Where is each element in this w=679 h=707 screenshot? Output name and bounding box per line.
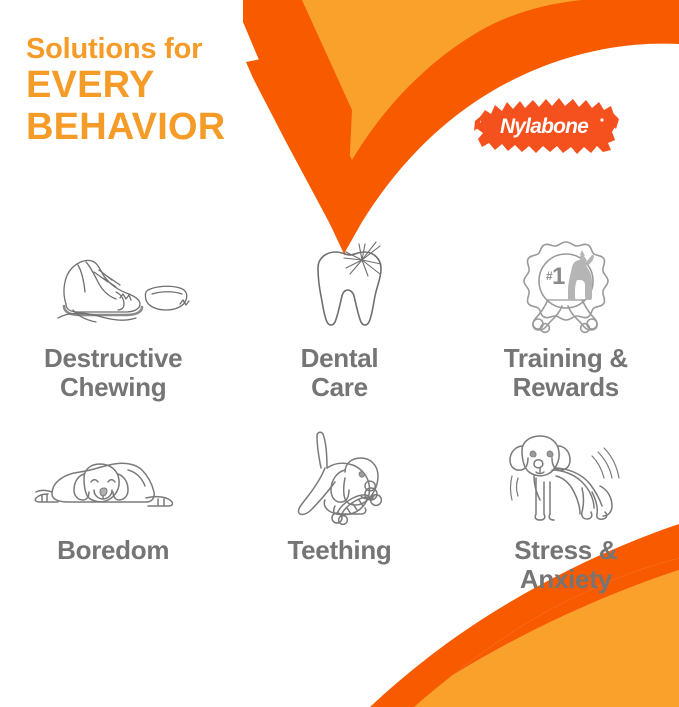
behavior-label: Boredom <box>57 536 169 565</box>
behavior-label: Destructive Chewing <box>44 344 182 401</box>
logo-wordmark: Nylabone <box>500 115 589 138</box>
page-title: Solutions for EVERY BEHAVIOR <box>26 34 225 147</box>
behavior-label: Stress & Anxiety <box>514 536 617 593</box>
bone-toy <box>332 488 381 524</box>
behavior-stress-anxiety: Stress & Anxiety <box>453 434 679 612</box>
behavior-label: Teething <box>287 536 391 565</box>
puppy-chewing-toy-icon <box>279 434 399 526</box>
chewed-shoe-icon <box>28 238 198 334</box>
behavior-teething: Teething <box>226 434 452 612</box>
anxious-standing-dog-icon <box>504 434 628 526</box>
nylabone-logo: Nylabone <box>473 95 619 157</box>
headline-line-1: Solutions for <box>26 34 225 64</box>
headline-line-2: EVERY <box>26 66 225 106</box>
behavior-destructive-chewing: Destructive Chewing <box>0 238 226 434</box>
award-rosette-dog-icon: # 1 <box>514 238 618 334</box>
behavior-label: Dental Care <box>301 344 379 401</box>
behavior-grid: Destructive Chewing <box>0 238 679 612</box>
headline-line-3: BEHAVIOR <box>26 108 225 148</box>
behavior-dental-care: Dental Care <box>226 238 452 434</box>
behavior-boredom: Boredom <box>0 434 226 612</box>
behavior-training-rewards: # 1 Training & Rewards <box>453 238 679 434</box>
promotional-banner: Solutions for EVERY BEHAVIOR Nylabone <box>0 0 679 707</box>
behavior-label: Training & Rewards <box>504 344 628 401</box>
motion-lines <box>510 448 619 500</box>
badge-number: 1 <box>552 263 565 290</box>
sitting-dog-silhouette <box>567 250 594 300</box>
lying-bored-dog-icon <box>28 434 198 526</box>
sparkling-tooth-icon <box>284 238 394 334</box>
